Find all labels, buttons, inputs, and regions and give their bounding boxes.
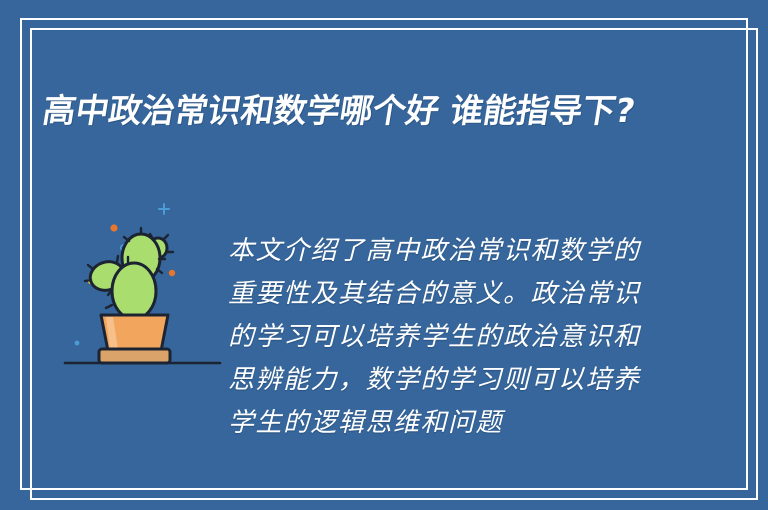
article-banner-card: 高中政治常识和数学哪个好 谁能指导下? (0, 0, 768, 510)
pot-base (99, 349, 170, 363)
orange-dot-right (169, 270, 175, 276)
page-title: 高中政治常识和数学哪个好 谁能指导下? (39, 86, 687, 136)
blue-cross-icon (159, 204, 169, 214)
orange-dot-upper (110, 224, 117, 231)
cactus-body (87, 234, 167, 319)
article-body-text: 本文介绍了高中政治常识和数学的重要性及其结合的意义。政治常识的学习可以培养学生的… (228, 230, 652, 445)
cactus-pad-main (112, 263, 156, 319)
potted-cactus-illustration (60, 193, 225, 368)
blue-dot-lower (75, 341, 80, 346)
flower-pot (99, 315, 170, 363)
